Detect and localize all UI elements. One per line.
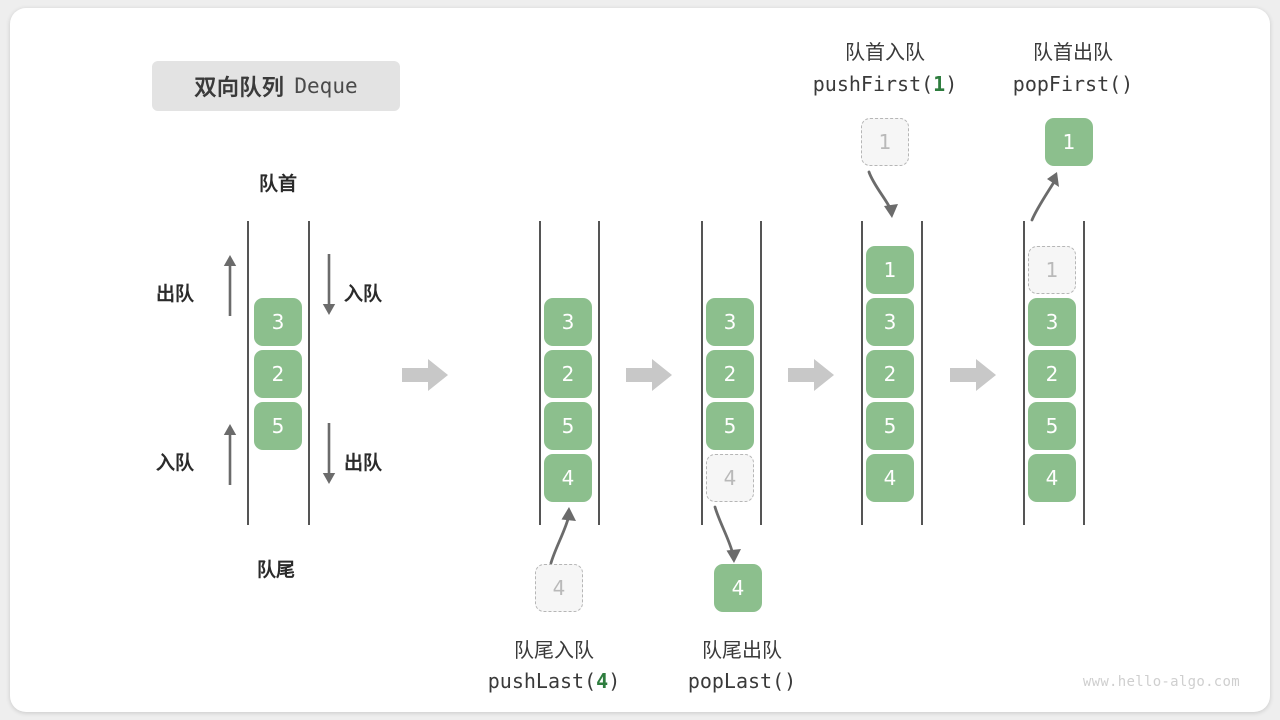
floating-cell: 1 — [1045, 118, 1093, 166]
caption-code-prefix: pushFirst( — [813, 72, 933, 96]
pop-first-arrow-icon — [1028, 170, 1072, 222]
deque-cell: 3 — [254, 298, 302, 346]
caption-code-prefix: popFirst( — [1013, 72, 1121, 96]
caption-code-num: 1 — [933, 72, 945, 96]
pop-last-arrow-icon — [710, 505, 754, 565]
deque-cell: 3 — [706, 298, 754, 346]
deque-cell: 4 — [866, 454, 914, 502]
caption-cn-push-first: 队首入队 — [785, 36, 985, 65]
rail-right-stage-push-last — [598, 221, 600, 525]
deque-cell: 2 — [1028, 350, 1076, 398]
rail-right-stage-initial — [308, 221, 310, 525]
caption-code-pop-first: popFirst() — [973, 72, 1173, 96]
dequeue-label-rear: 出队 — [344, 448, 382, 475]
watermark: www.hello-algo.com — [1083, 674, 1240, 690]
caption-code-prefix: popLast( — [688, 669, 784, 693]
caption-code-suffix: ) — [1121, 72, 1133, 96]
deque-cell: 4 — [1028, 454, 1076, 502]
deque-cell: 2 — [706, 350, 754, 398]
rail-right-stage-push-first — [921, 221, 923, 525]
diagram-title-chip: 双向队列 Deque — [152, 61, 400, 111]
diagram-title-cn: 双向队列 — [194, 70, 284, 102]
rail-left-stage-pop-last — [701, 221, 703, 525]
deque-cell: 3 — [544, 298, 592, 346]
deque-cell-removed: 1 — [1028, 246, 1076, 294]
rail-left-stage-push-first — [861, 221, 863, 525]
arrow-down-rear-dequeue-icon — [321, 423, 337, 485]
rear-label: 队尾 — [248, 555, 304, 582]
arrow-down-front-enqueue-icon — [321, 254, 337, 316]
rail-left-stage-push-last — [539, 221, 541, 525]
rail-right-stage-pop-first — [1083, 221, 1085, 525]
deque-cell: 3 — [866, 298, 914, 346]
caption-cn-pop-first: 队首出队 — [973, 36, 1173, 65]
push-last-arrow-icon — [545, 505, 589, 565]
deque-cell: 1 — [866, 246, 914, 294]
deque-cell: 5 — [254, 402, 302, 450]
caption-code-suffix: ) — [608, 669, 620, 693]
dequeue-label-front: 出队 — [156, 279, 194, 306]
flow-arrow-icon — [626, 357, 672, 393]
deque-cell-removed: 4 — [706, 454, 754, 502]
push-first-arrow-icon — [865, 170, 909, 220]
floating-cell: 4 — [714, 564, 762, 612]
caption-cn-push-last: 队尾入队 — [454, 634, 654, 663]
deque-cell: 5 — [866, 402, 914, 450]
rail-right-stage-pop-last — [760, 221, 762, 525]
deque-cell: 3 — [1028, 298, 1076, 346]
arrow-up-rear-enqueue-icon — [222, 423, 238, 485]
caption-code-num: 4 — [596, 669, 608, 693]
front-label: 队首 — [250, 169, 306, 196]
caption-code-suffix: ) — [945, 72, 957, 96]
enqueue-label-front: 入队 — [344, 279, 382, 306]
deque-cell: 5 — [706, 402, 754, 450]
rail-left-stage-initial — [247, 221, 249, 525]
deque-cell: 2 — [254, 350, 302, 398]
caption-cn-pop-last: 队尾出队 — [642, 634, 842, 663]
flow-arrow-icon — [402, 357, 448, 393]
deque-cell: 2 — [866, 350, 914, 398]
caption-code-pop-last: popLast() — [642, 669, 842, 693]
caption-code-prefix: pushLast( — [488, 669, 596, 693]
diagram-card: 双向队列 Deque 队首 队尾 出队 入队 入队 出队 3 — [10, 8, 1270, 712]
deque-cell: 2 — [544, 350, 592, 398]
caption-code-suffix: ) — [784, 669, 796, 693]
rail-left-stage-pop-first — [1023, 221, 1025, 525]
caption-code-push-first: pushFirst(1) — [785, 72, 985, 96]
floating-cell: 4 — [535, 564, 583, 612]
caption-code-push-last: pushLast(4) — [454, 669, 654, 693]
flow-arrow-icon — [950, 357, 996, 393]
enqueue-label-rear: 入队 — [156, 448, 194, 475]
deque-cell: 5 — [1028, 402, 1076, 450]
deque-cell: 5 — [544, 402, 592, 450]
deque-cell: 4 — [544, 454, 592, 502]
floating-cell: 1 — [861, 118, 909, 166]
flow-arrow-icon — [788, 357, 834, 393]
arrow-up-front-dequeue-icon — [222, 254, 238, 316]
diagram-title-code: Deque — [294, 74, 357, 98]
